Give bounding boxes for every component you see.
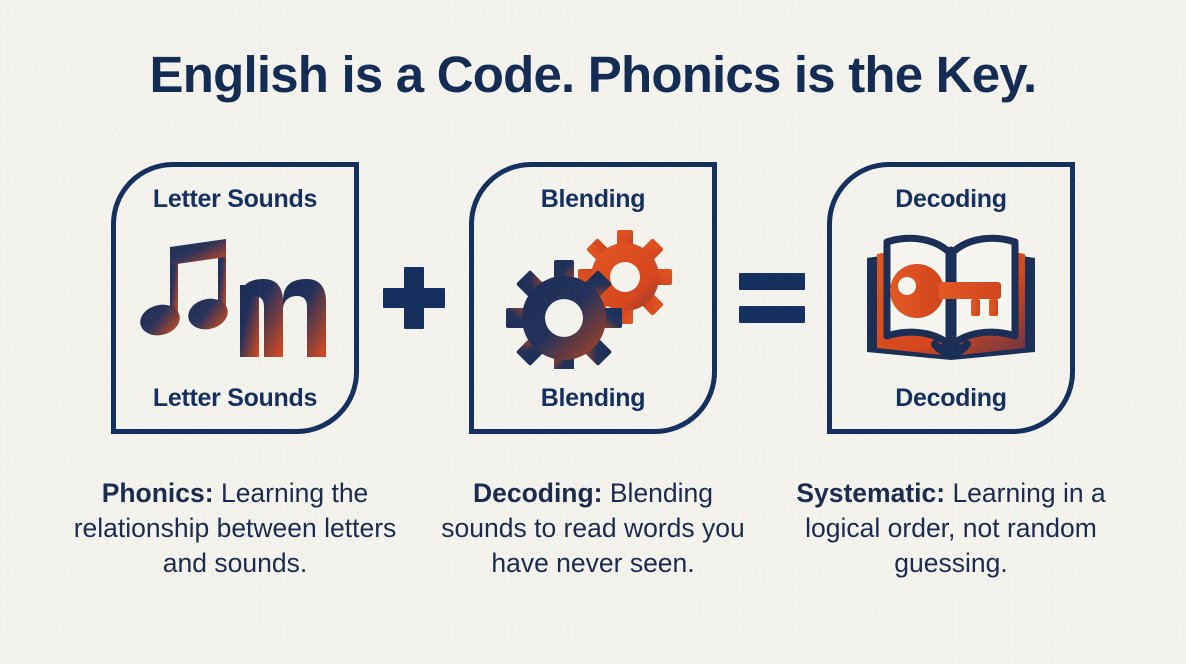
caption-phonics: Phonics: Learning the relationship betwe… [56, 476, 414, 582]
page-title: English is a Code. Phonics is the Key. [0, 45, 1186, 104]
plus-icon [383, 267, 445, 329]
caption-decoding: Decoding: Blending sounds to read words … [414, 476, 772, 582]
card-decoding-top-label: Decoding [895, 185, 1007, 214]
card-letter-sounds-top-label: Letter Sounds [153, 185, 317, 214]
caption-systematic-term: Systematic: [796, 478, 945, 508]
caption-decoding-term: Decoding: [473, 478, 603, 508]
equals-icon [739, 273, 805, 323]
card-decoding[interactable]: Decoding [827, 162, 1075, 434]
card-blending-bottom-label: Blending [541, 384, 646, 413]
card-blending[interactable]: Blending [469, 162, 717, 434]
card-blending-top-label: Blending [541, 185, 646, 214]
caption-systematic: Systematic: Learning in a logical order,… [772, 476, 1130, 582]
card-letter-sounds-bottom-label: Letter Sounds [153, 384, 317, 413]
caption-phonics-term: Phonics: [102, 478, 214, 508]
caption-row: Phonics: Learning the relationship betwe… [0, 476, 1186, 582]
music-note-letter-m-icon [126, 214, 344, 384]
card-letter-sounds[interactable]: Letter Sounds [111, 162, 359, 434]
gears-icon [484, 214, 702, 384]
card-decoding-bottom-label: Decoding [895, 384, 1007, 413]
operator-equals [717, 273, 827, 323]
open-book-key-icon [842, 214, 1060, 384]
phonics-equation: Letter Sounds [0, 162, 1186, 434]
operator-plus [359, 267, 469, 329]
infographic-page: English is a Code. Phonics is the Key. L… [0, 0, 1186, 664]
